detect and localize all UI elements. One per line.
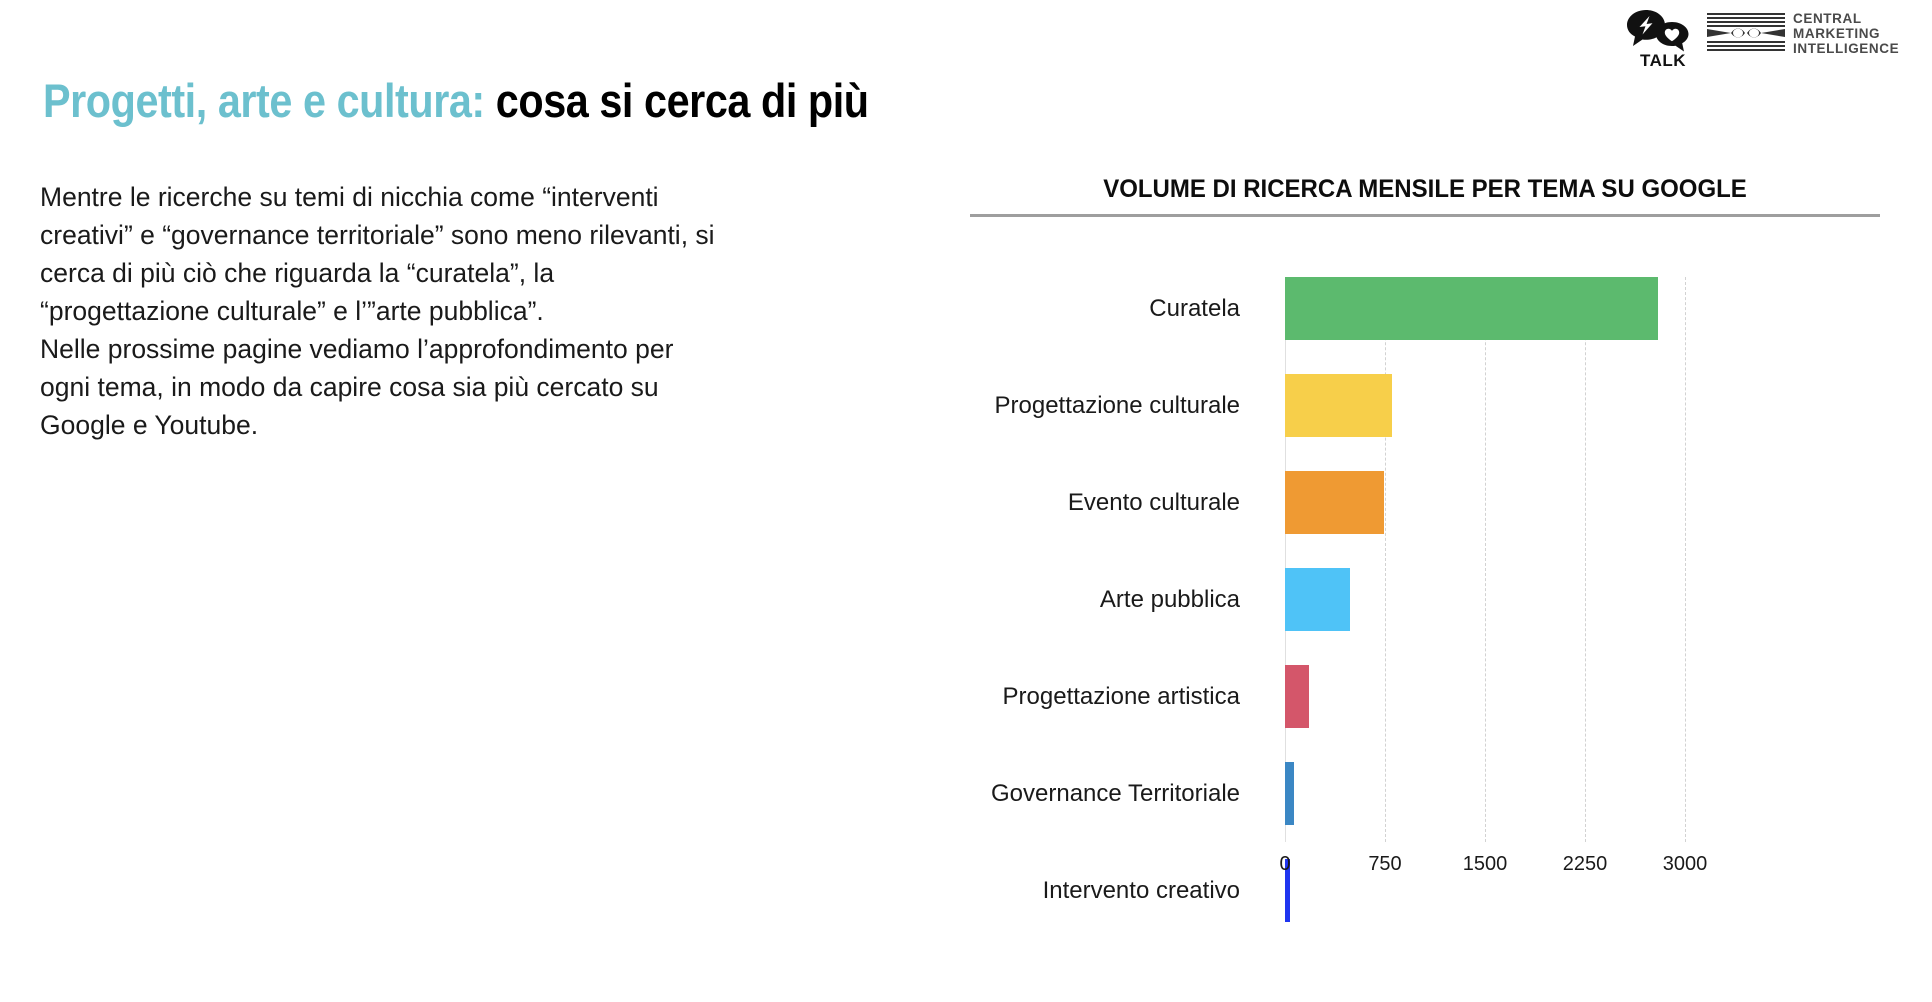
chart-x-tick-label: 750 (1368, 853, 1401, 876)
chart-bar[interactable] (1285, 374, 1392, 437)
chart-category-label: Intervento creativo (1043, 859, 1240, 922)
chart-x-tick-label: 0 (1279, 853, 1290, 876)
chart-category-label: Governance Territoriale (991, 762, 1240, 825)
chart-bar-row: Arte pubblica (955, 568, 1895, 631)
cmi-line-3: INTELLIGENCE (1793, 41, 1899, 56)
chart-bar[interactable] (1285, 665, 1309, 728)
chart-bar[interactable] (1285, 471, 1384, 534)
chart-category-label: Progettazione culturale (995, 374, 1240, 437)
chart-title-rule (970, 214, 1880, 217)
cmi-wordmark: CENTRAL MARKETING INTELLIGENCE (1793, 11, 1899, 56)
page-title-plain: cosa si cerca di più (485, 74, 869, 127)
chart-x-tick-label: 2250 (1563, 853, 1608, 876)
chart-bar-row: Progettazione artistica (955, 665, 1895, 728)
body-paragraph-1: Mentre le ricerche su temi di nicchia co… (40, 178, 730, 330)
chart-bar-row: Curatela (955, 277, 1895, 340)
chart-bar-row: Intervento creativo (955, 859, 1895, 922)
chart-bar[interactable] (1285, 762, 1294, 825)
chart-gridline (1485, 277, 1486, 842)
chart-bar-row: Progettazione culturale (955, 374, 1895, 437)
chart-bar[interactable] (1285, 568, 1350, 631)
search-volume-chart: VOLUME DI RICERCA MENSILE PER TEMA SU GO… (955, 175, 1895, 975)
body-paragraph-2: Nelle prossime pagine vediamo l’approfon… (40, 330, 730, 444)
chart-x-tick-label: 1500 (1463, 853, 1508, 876)
chart-gridline (1685, 277, 1686, 842)
axis-zero-line (1285, 277, 1286, 842)
striped-eyes-icon (1707, 12, 1785, 54)
talk-logo: TALK (1625, 8, 1701, 72)
body-copy: Mentre le ricerche su temi di nicchia co… (40, 178, 730, 444)
talk-wordmark: TALK (1625, 52, 1701, 70)
chart-plot-area: CuratelaProgettazione culturaleEvento cu… (955, 245, 1895, 975)
chart-bar[interactable] (1285, 277, 1658, 340)
chart-bar-row: Governance Territoriale (955, 762, 1895, 825)
chart-category-label: Evento culturale (1068, 471, 1240, 534)
speech-bubble-bolt-icon (1625, 8, 1701, 52)
cmi-line-2: MARKETING (1793, 26, 1899, 41)
speech-bubble-heart-icon (1656, 22, 1689, 52)
page-title: Progetti, arte e cultura: cosa si cerca … (43, 73, 869, 128)
logo-area: TALK CENTRAL MARKETING INTELLIGENCE (1625, 8, 1925, 78)
chart-title: VOLUME DI RICERCA MENSILE PER TEMA SU GO… (988, 175, 1862, 204)
chart-gridline (1385, 277, 1386, 842)
chart-bar-row: Evento culturale (955, 471, 1895, 534)
page-title-accent: Progetti, arte e cultura: (43, 74, 485, 127)
chart-category-label: Progettazione artistica (1003, 665, 1240, 728)
cmi-line-1: CENTRAL (1793, 11, 1899, 26)
chart-category-label: Arte pubblica (1100, 568, 1240, 631)
chart-x-tick-label: 3000 (1663, 853, 1708, 876)
cmi-logo: CENTRAL MARKETING INTELLIGENCE (1707, 10, 1919, 58)
chart-category-label: Curatela (1149, 277, 1240, 340)
chart-gridline (1585, 277, 1586, 842)
